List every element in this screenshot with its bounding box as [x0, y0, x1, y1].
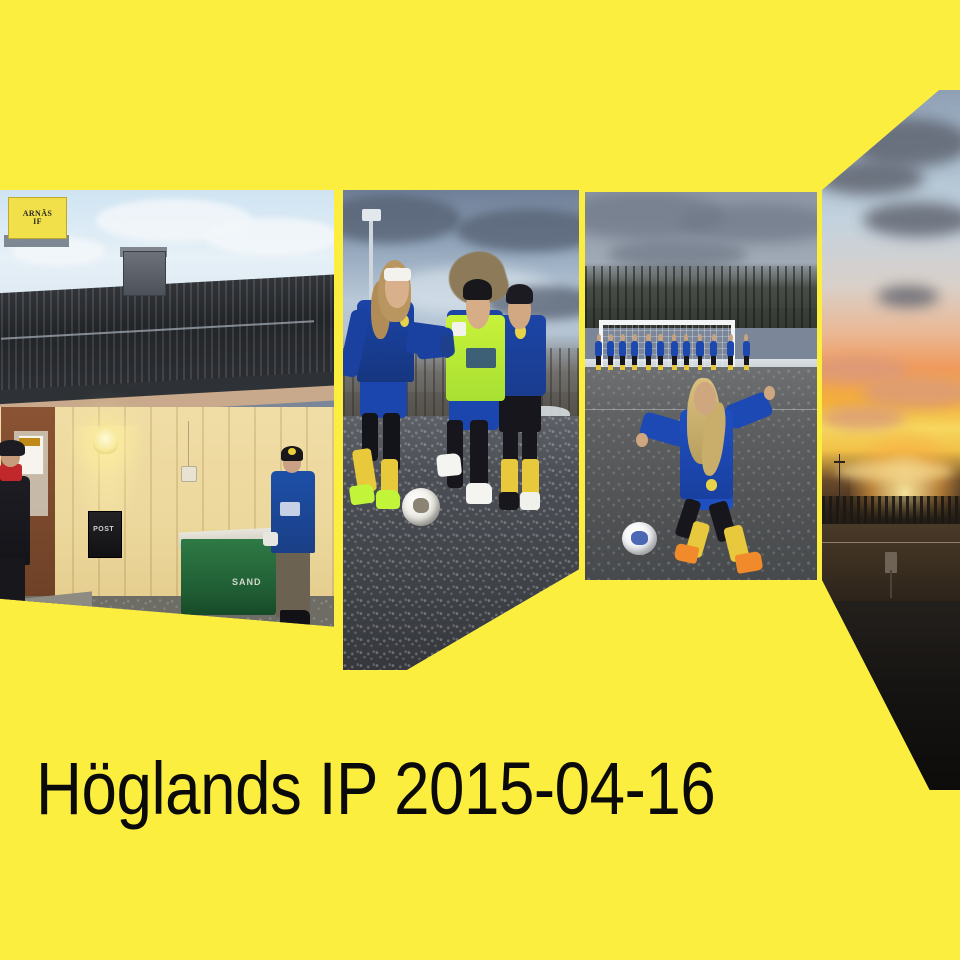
- hanging-wire: [188, 421, 189, 468]
- person-left-legs: [0, 558, 25, 638]
- cloud: [863, 202, 960, 237]
- person-right-jacket-logo: [280, 502, 300, 516]
- person-left-torso: [0, 476, 30, 566]
- club-sign-line2: IF: [33, 218, 42, 226]
- field-fence: [822, 542, 960, 544]
- football: [402, 488, 440, 526]
- utility-pole-arm: [834, 461, 845, 463]
- person-right-trousers: [276, 551, 310, 617]
- sunset-photo: [822, 90, 960, 790]
- lined-up-player: [696, 334, 705, 371]
- person-right-glove: [263, 532, 278, 546]
- lined-up-player: [618, 334, 627, 371]
- lined-up-player: [630, 334, 639, 371]
- wall-lamp: [93, 426, 119, 454]
- player-bib-beanie: [463, 279, 491, 301]
- kicker-crest: [706, 479, 718, 491]
- roof-vent: [123, 251, 166, 295]
- lined-up-player: [656, 334, 665, 371]
- player-bib-boot: [436, 453, 462, 477]
- player-front-boot: [376, 490, 400, 509]
- player-front-glove: [440, 334, 454, 358]
- poster-caption: Höglands IP 2015-04-16: [36, 752, 715, 826]
- cloud: [836, 461, 953, 482]
- lined-up-player: [709, 334, 718, 371]
- mailbox-label: POST: [91, 526, 117, 533]
- bib-patch: [452, 322, 466, 336]
- shooting-photo: [585, 192, 817, 580]
- foreground-ground: [822, 601, 960, 790]
- person-right-boot: [280, 610, 311, 634]
- player-bib-leg: [470, 420, 488, 490]
- utility-pole: [839, 454, 841, 531]
- player-bib-boot: [466, 483, 492, 505]
- kicker-hand: [636, 433, 648, 447]
- player-back-beanie: [506, 284, 533, 304]
- player-back-boot: [499, 492, 519, 509]
- kicker-head: [694, 382, 716, 415]
- duel-photo: [343, 190, 579, 670]
- cloud: [863, 377, 960, 409]
- lined-up-player: [594, 334, 603, 371]
- photo-collage-poster: POST SAND AR: [0, 0, 960, 960]
- sand-container-label: SAND: [232, 577, 280, 587]
- goal-crossbar: [599, 320, 735, 325]
- floodlight-head: [362, 209, 381, 221]
- field-sign-post: [890, 570, 892, 598]
- clubhouse-photo: POST SAND AR: [0, 190, 334, 662]
- lined-up-player: [726, 334, 735, 371]
- kicker-hand: [764, 386, 776, 400]
- player-front-headband: [384, 268, 411, 281]
- lined-up-player: [644, 334, 653, 371]
- treeline-silhouette: [822, 496, 960, 528]
- player-back-boot: [520, 492, 540, 509]
- player-back-shorts: [499, 392, 541, 433]
- lined-up-player: [742, 334, 751, 371]
- bib-print: [466, 348, 497, 367]
- person-left-cap: [0, 440, 25, 456]
- lined-up-player: [682, 334, 691, 371]
- cloud: [205, 218, 334, 256]
- arnas-if-sign: ARNÄS IF: [8, 197, 68, 239]
- mailbox: [88, 511, 122, 558]
- forest-texture: [585, 266, 817, 328]
- football: [622, 522, 657, 555]
- lined-up-player: [670, 334, 679, 371]
- cloud: [877, 286, 939, 307]
- team-line-up: [594, 334, 766, 371]
- player-front-boot: [349, 484, 375, 506]
- lined-up-player: [606, 334, 615, 371]
- wall-socket: [181, 466, 197, 482]
